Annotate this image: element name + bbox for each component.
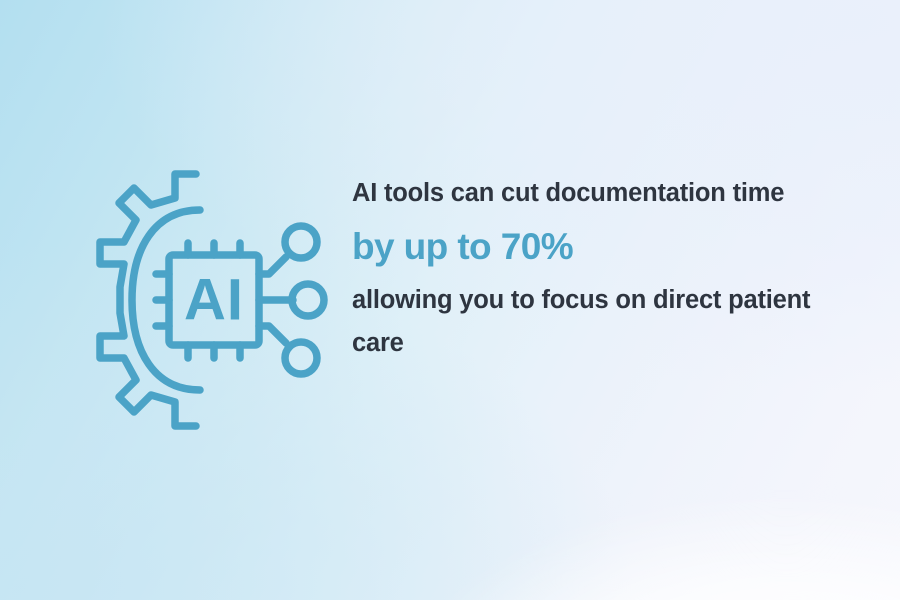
- chip-label: AI: [184, 268, 244, 333]
- subline-text: allowing you to focus on direct patient …: [352, 279, 852, 367]
- circuit-node-middle: [292, 284, 324, 316]
- text-block: AI tools can cut documentation time by u…: [352, 172, 852, 366]
- headline-text: AI tools can cut documentation time: [352, 172, 852, 216]
- ai-gear-chip-icon: AI: [72, 163, 328, 437]
- circuit-node-bottom: [285, 342, 317, 374]
- circuit-trace-top: [259, 257, 286, 274]
- slide-canvas: AI AI tools can cut documentation time b…: [0, 0, 900, 600]
- circuit-node-top: [285, 226, 317, 258]
- stat-highlight: by up to 70%: [352, 220, 852, 274]
- circuit-trace-bottom: [259, 326, 286, 343]
